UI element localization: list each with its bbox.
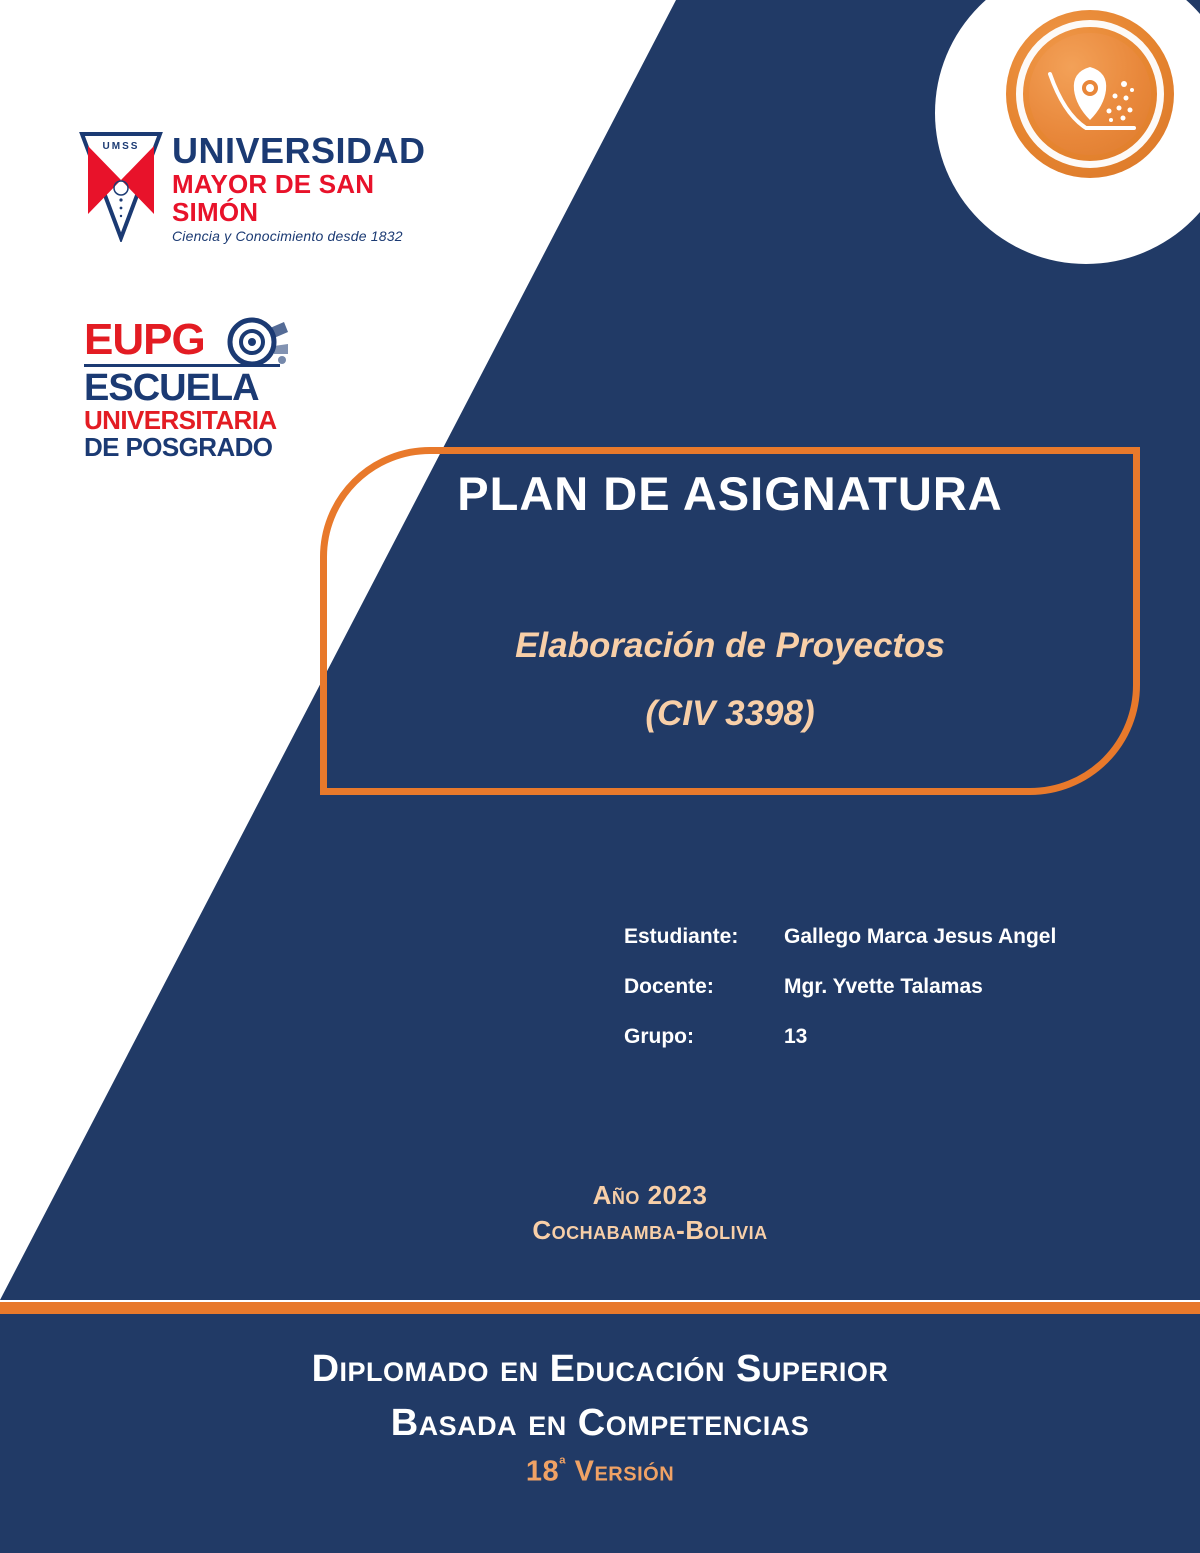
subject-block: Elaboración de Proyectos (CIV 3398) — [320, 612, 1140, 748]
university-name-line1: UNIVERSIDAD — [172, 132, 428, 170]
version-number: 18 — [526, 1456, 559, 1488]
eupg-line-universitaria: UNIVERSITARIA — [84, 407, 294, 434]
city-text: Cochabamba-Bolivia — [270, 1213, 1030, 1248]
info-value-teacher: Mgr. Yvette Talamas — [784, 975, 1164, 999]
program-title-line2: Basada en Competencias — [0, 1396, 1200, 1450]
university-logo: UMSS UNIVERSIDAD MAYOR DE SAN SIMÓN Cien… — [78, 128, 428, 246]
info-label-group: Grupo: — [624, 1025, 784, 1049]
cover-page: UMSS UNIVERSIDAD MAYOR DE SAN SIMÓN Cien… — [0, 0, 1200, 1553]
emblem-figure-icon — [1006, 10, 1174, 178]
diplomado-emblem-icon — [1006, 10, 1174, 178]
eupg-gear-icon — [222, 314, 294, 372]
info-label-teacher: Docente: — [624, 975, 784, 999]
info-label-student: Estudiante: — [624, 925, 784, 949]
version-ordinal: ª — [559, 1454, 566, 1474]
info-row-teacher: Docente: Mgr. Yvette Talamas — [624, 975, 1164, 999]
year-text: Año 2023 — [270, 1178, 1030, 1213]
university-name-line2: MAYOR DE SAN SIMÓN — [172, 170, 428, 226]
subject-code: (CIV 3398) — [320, 680, 1140, 748]
info-value-student: Gallego Marca Jesus Angel — [784, 925, 1164, 949]
info-row-group: Grupo: 13 — [624, 1025, 1164, 1049]
info-row-student: Estudiante: Gallego Marca Jesus Angel — [624, 925, 1164, 949]
postgrad-school-logo: EUPG ESCUELA UNIVERSITARIA DE POSGRADO — [84, 318, 294, 470]
eupg-line-escuela: ESCUELA — [84, 369, 294, 407]
page-title: PLAN DE ASIGNATURA — [320, 466, 1140, 521]
university-tagline: Ciencia y Conocimiento desde 1832 — [172, 226, 428, 246]
info-value-group: 13 — [784, 1025, 1164, 1049]
version-word: Versión — [575, 1456, 675, 1488]
eupg-line-posgrado: DE POSGRADO — [84, 434, 294, 461]
subject-name: Elaboración de Proyectos — [320, 612, 1140, 680]
umss-shield-icon: UMSS — [78, 128, 164, 242]
program-title-line1: Diplomado en Educación Superior — [0, 1342, 1200, 1396]
place-block: Año 2023 Cochabamba-Bolivia — [270, 1178, 1030, 1248]
info-block: Estudiante: Gallego Marca Jesus Angel Do… — [624, 925, 1164, 1075]
program-title: Diplomado en Educación Superior Basada e… — [0, 1342, 1200, 1450]
program-version: 18ª Versión — [0, 1454, 1200, 1489]
orange-divider-bar — [0, 1302, 1200, 1314]
university-logo-text: UNIVERSIDAD MAYOR DE SAN SIMÓN Ciencia y… — [172, 132, 428, 246]
footer-band: Diplomado en Educación Superior Basada e… — [0, 1314, 1200, 1553]
svg-text:UMSS: UMSS — [103, 141, 140, 152]
